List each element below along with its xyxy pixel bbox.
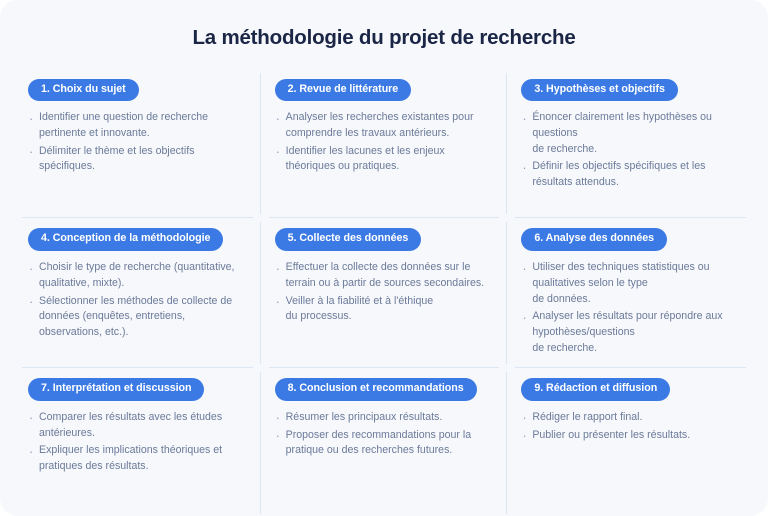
step-points-4: Choisir le type de recherche (quantitati… bbox=[28, 260, 245, 340]
step-badge-7: 7. Interprétation et discussion bbox=[28, 378, 204, 401]
step-points-7: Comparer les résultats avec les études a… bbox=[28, 410, 245, 475]
list-item: Choisir le type de recherche (quantitati… bbox=[28, 260, 245, 291]
step-points-3: Énoncer clairement les hypothèses ou que… bbox=[521, 110, 738, 190]
list-item: Analyser les recherches existantes pour … bbox=[275, 110, 492, 141]
step-badge-3: 3. Hypothèses et objectifs bbox=[521, 79, 678, 102]
list-item: Publier ou présenter les résultats. bbox=[521, 428, 738, 444]
step-points-9: Rédiger le rapport final. Publier ou pré… bbox=[521, 410, 738, 443]
step-cell-7: 7. Interprétation et discussion Comparer… bbox=[14, 368, 261, 516]
step-points-5: Effectuer la collecte des données sur le… bbox=[275, 260, 492, 325]
step-badge-8: 8. Conclusion et recommandations bbox=[275, 378, 477, 401]
step-cell-9: 9. Rédaction et diffusion Rédiger le rap… bbox=[507, 368, 754, 516]
list-item: Veiller à la fiabilité et à l'éthiquedu … bbox=[275, 294, 492, 325]
step-badge-9: 9. Rédaction et diffusion bbox=[521, 378, 670, 401]
step-points-2: Analyser les recherches existantes pour … bbox=[275, 110, 492, 175]
step-badge-2: 2. Revue de littérature bbox=[275, 79, 412, 102]
list-item: Définir les objectifs spécifiques et les… bbox=[521, 159, 738, 190]
list-item: Sélectionner les méthodes de collecte de… bbox=[28, 294, 245, 341]
list-item: Effectuer la collecte des données sur le… bbox=[275, 260, 492, 291]
list-item: Rédiger le rapport final. bbox=[521, 410, 738, 426]
list-item: Expliquer les implications théoriques et… bbox=[28, 443, 245, 474]
list-item: Proposer des recommandations pour la pra… bbox=[275, 428, 492, 459]
list-item: Résumer les principaux résultats. bbox=[275, 410, 492, 426]
list-item: Comparer les résultats avec les études a… bbox=[28, 410, 245, 441]
step-badge-4: 4. Conception de la méthodologie bbox=[28, 228, 223, 251]
step-cell-8: 8. Conclusion et recommandations Résumer… bbox=[261, 368, 508, 516]
page-title: La méthodologie du projet de recherche bbox=[0, 0, 768, 69]
list-item: Identifier une question de recherche per… bbox=[28, 110, 245, 141]
step-points-1: Identifier une question de recherche per… bbox=[28, 110, 245, 175]
step-points-6: Utiliser des techniques statistiques ou … bbox=[521, 260, 738, 356]
list-item: Énoncer clairement les hypothèses ou que… bbox=[521, 110, 738, 157]
steps-grid: 1. Choix du sujet Identifier une questio… bbox=[0, 69, 768, 516]
list-item: Délimiter le thème et les objectifs spéc… bbox=[28, 144, 245, 175]
step-cell-6: 6. Analyse des données Utiliser des tech… bbox=[507, 218, 754, 368]
list-item: Utiliser des techniques statistiques ou … bbox=[521, 260, 738, 307]
step-points-8: Résumer les principaux résultats. Propos… bbox=[275, 410, 492, 459]
step-cell-3: 3. Hypothèses et objectifs Énoncer clair… bbox=[507, 69, 754, 219]
step-badge-1: 1. Choix du sujet bbox=[28, 79, 139, 102]
step-badge-5: 5. Collecte des données bbox=[275, 228, 422, 251]
infographic-card: La méthodologie du projet de recherche 1… bbox=[0, 0, 768, 516]
step-cell-2: 2. Revue de littérature Analyser les rec… bbox=[261, 69, 508, 219]
step-badge-6: 6. Analyse des données bbox=[521, 228, 667, 251]
step-cell-1: 1. Choix du sujet Identifier une questio… bbox=[14, 69, 261, 219]
list-item: Analyser les résultats pour répondre aux… bbox=[521, 309, 738, 356]
list-item: Identifier les lacunes et les enjeux thé… bbox=[275, 144, 492, 175]
step-cell-5: 5. Collecte des données Effectuer la col… bbox=[261, 218, 508, 368]
step-cell-4: 4. Conception de la méthodologie Choisir… bbox=[14, 218, 261, 368]
